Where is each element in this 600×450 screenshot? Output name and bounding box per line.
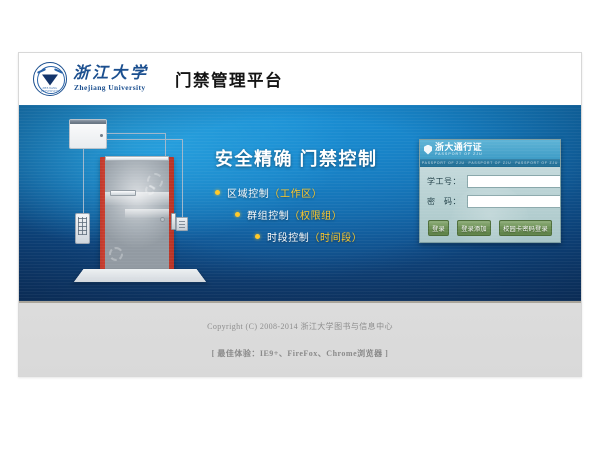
login-panel-title-en: PASSPORT OF ZJU — [435, 153, 483, 157]
gear-icon — [109, 247, 123, 261]
site-header: ZHEJIANG UNIVERSITY 浙江大学 Zhejiang Univer… — [19, 53, 581, 105]
cable-controller-to-keypad — [83, 149, 84, 213]
page-card: ZHEJIANG UNIVERSITY 浙江大学 Zhejiang Univer… — [18, 52, 582, 377]
strip-text: PASSPORT OF ZJU — [422, 161, 465, 165]
bullet-dot-icon — [215, 190, 220, 195]
banner-feature-list: 区域控制 （工作区） 群组控制 （权限组） 时段控制 （时间段） — [215, 185, 425, 244]
controller-box-icon — [69, 119, 107, 149]
strip-text: PASSPORT OF ZJU — [515, 161, 558, 165]
brand-text: 浙江大学 Zhejiang University — [67, 66, 149, 93]
cable-controller-to-reader — [107, 139, 182, 140]
feature-label: 群组控制 — [247, 207, 289, 222]
door-closer-arm — [110, 190, 136, 196]
password-input[interactable] — [467, 195, 561, 208]
feature-accent: （工作区） — [269, 185, 322, 200]
floor-plate — [74, 269, 206, 282]
university-logo[interactable]: ZHEJIANG UNIVERSITY 浙江大学 Zhejiang Univer… — [33, 62, 149, 96]
feature-accent: （时间段） — [309, 229, 362, 244]
footer-copyright: Copyright (C) 2008-2014 浙江大学图书与信息中心 — [207, 321, 393, 332]
login-panel: 浙大通行证 PASSPORT OF ZJU PASSPORT OF ZJU PA… — [419, 139, 561, 243]
password-label: 密 码： — [427, 196, 467, 207]
cable-reader-vertical — [182, 139, 183, 217]
userid-label: 学工号： — [427, 176, 467, 187]
university-name-cn: 浙江大学 — [73, 66, 149, 83]
door-frame — [100, 157, 174, 273]
university-name-en: Zhejiang University — [74, 83, 149, 92]
seal-wing-right — [54, 68, 63, 73]
field-row-userid: 学工号： — [427, 175, 553, 188]
login-button-row: 登录 登录添加 校园卡密码登录 — [420, 220, 560, 236]
cable-door-top-vertical — [165, 133, 166, 157]
hero-banner: 安全精确 门禁控制 区域控制 （工作区） 群组控制 （权限组） 时段控制 （时间… — [19, 105, 581, 301]
banner-copy: 安全精确 门禁控制 区域控制 （工作区） 群组控制 （权限组） 时段控制 （时间… — [215, 145, 425, 251]
seal-wing-left — [37, 68, 46, 73]
banner-headline: 安全精确 门禁控制 — [215, 145, 425, 171]
access-control-door-illustration — [53, 117, 223, 299]
feature-item-time-control: 时段控制 （时间段） — [255, 229, 425, 244]
field-row-password: 密 码： — [427, 195, 553, 208]
login-form: 学工号： 密 码： — [420, 167, 560, 208]
keypad-reader-icon — [75, 213, 90, 244]
login-panel-strip: PASSPORT OF ZJU PASSPORT OF ZJU PASSPORT… — [420, 159, 560, 167]
card-reader-keys — [179, 220, 185, 228]
feature-label: 区域控制 — [227, 185, 269, 200]
zju-seal-icon: ZHEJIANG UNIVERSITY — [33, 62, 67, 96]
feature-label: 时段控制 — [267, 229, 309, 244]
feature-item-group-control: 群组控制 （权限组） — [235, 207, 425, 222]
bullet-dot-icon — [235, 212, 240, 217]
bullet-dot-icon — [255, 234, 260, 239]
shield-icon — [424, 145, 432, 155]
keypad-keys — [78, 217, 87, 235]
seal-arc-text: ZHEJIANG UNIVERSITY — [34, 87, 66, 93]
login-panel-titles: 浙大通行证 PASSPORT OF ZJU — [435, 143, 483, 157]
login-panel-title-cn: 浙大通行证 — [435, 143, 483, 152]
userid-input[interactable] — [467, 175, 561, 188]
page-title: 门禁管理平台 — [175, 67, 283, 91]
footer-browser-note: [ 最佳体验：IE9+、FireFox、Chrome浏览器 ] — [212, 348, 389, 359]
door-panel — [105, 161, 169, 273]
login-panel-header: 浙大通行证 PASSPORT OF ZJU — [420, 140, 560, 159]
door-lock-knob-icon — [160, 217, 165, 222]
campus-card-password-login-button[interactable]: 校园卡密码登录 — [499, 220, 552, 236]
cable-controller-to-door-top — [107, 133, 165, 134]
strip-text: PASSPORT OF ZJU — [469, 161, 512, 165]
controller-led-icon — [100, 134, 103, 137]
site-footer: Copyright (C) 2008-2014 浙江大学图书与信息中心 [ 最佳… — [19, 301, 581, 377]
seal-bird-icon — [42, 74, 58, 85]
login-add-button[interactable]: 登录添加 — [457, 220, 491, 236]
feature-accent: （权限组） — [289, 207, 342, 222]
card-reader-icon — [176, 217, 188, 231]
login-button[interactable]: 登录 — [428, 220, 449, 236]
feature-item-area-control: 区域控制 （工作区） — [215, 185, 425, 200]
gear-icon — [145, 185, 155, 195]
